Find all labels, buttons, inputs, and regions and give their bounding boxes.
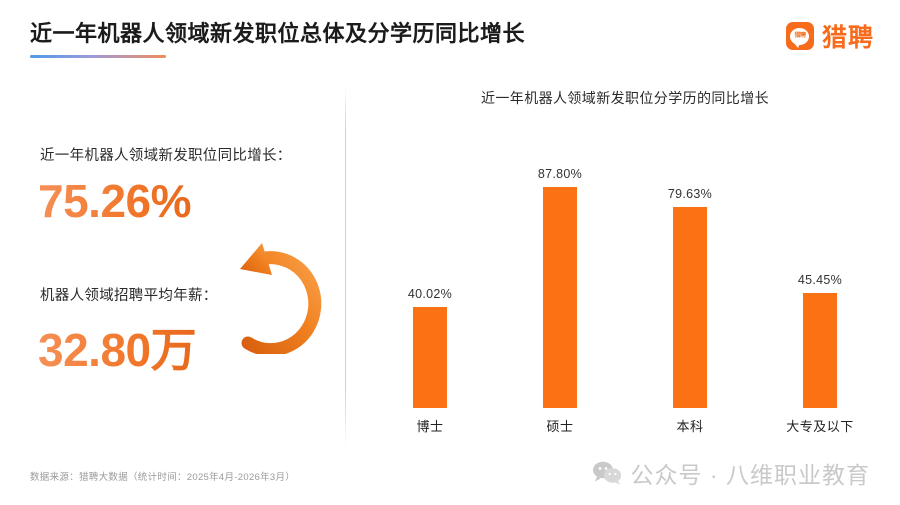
bar-value-label: 45.45% [798,273,842,287]
bar-category-label: 硕士 [500,416,620,435]
growth-arrow-icon [218,239,326,354]
chart-title: 近一年机器人领域新发职位分学历的同比增长 [360,88,890,108]
brand-logo: 猎聘 猎聘 [786,18,874,54]
page-title: 近一年机器人领域新发职位总体及分学历同比增长 [30,16,525,48]
page-header: 近一年机器人领域新发职位总体及分学历同比增长 猎聘 猎聘 [0,0,900,62]
chart-bar-column: 79.63% [630,128,750,408]
chart-plot-area: 40.02%87.80%79.63%45.45% [360,128,890,408]
speech-bubble-icon: 猎聘 [790,28,809,45]
watermark-label: 公众号 · 八维职业教育 [631,456,870,490]
title-underline-accent [30,55,166,58]
chart-bar-column: 45.45% [760,128,880,408]
stats-panel: 近一年机器人领域新发职位同比增长： 75.26% 机器人领域招聘平均年薪： 32… [0,86,345,448]
stat-label-job-growth: 近一年机器人领域新发职位同比增长： [40,144,292,165]
chart-bar-column: 87.80% [500,128,620,408]
bar-category-label: 本科 [630,416,750,435]
education-growth-chart: 近一年机器人领域新发职位分学历的同比增长 40.02%87.80%79.63%4… [360,80,890,448]
wechat-icon [592,461,622,485]
brand-wordmark: 猎聘 [822,18,874,54]
bar-value-label: 87.80% [538,167,582,181]
bar-rect[interactable] [413,307,447,408]
bar-value-label: 79.63% [668,187,712,201]
brand-logo-text: 猎聘 [794,33,805,39]
bar-rect[interactable] [803,293,837,408]
bar-category-label: 大专及以下 [760,416,880,435]
report-page: 近一年机器人领域新发职位总体及分学历同比增长 猎聘 猎聘 近一年机器人领域新发职… [0,0,900,505]
bar-rect[interactable] [543,187,577,408]
stat-value-avg-salary: 32.80万 [38,314,196,380]
bar-category-label: 博士 [370,416,490,435]
section-divider [345,86,346,448]
channel-watermark: 公众号 · 八维职业教育 [592,456,870,490]
bar-rect[interactable] [673,207,707,408]
stat-value-job-growth: 75.26% [38,174,191,228]
chart-bar-column: 40.02% [370,128,490,408]
bar-value-label: 40.02% [408,287,452,301]
data-source-note: 数据来源：猎聘大数据（统计时间：2025年4月-2026年3月） [30,469,295,483]
stat-label-avg-salary: 机器人领域招聘平均年薪： [40,284,218,305]
liepin-logo-icon: 猎聘 [786,22,814,50]
